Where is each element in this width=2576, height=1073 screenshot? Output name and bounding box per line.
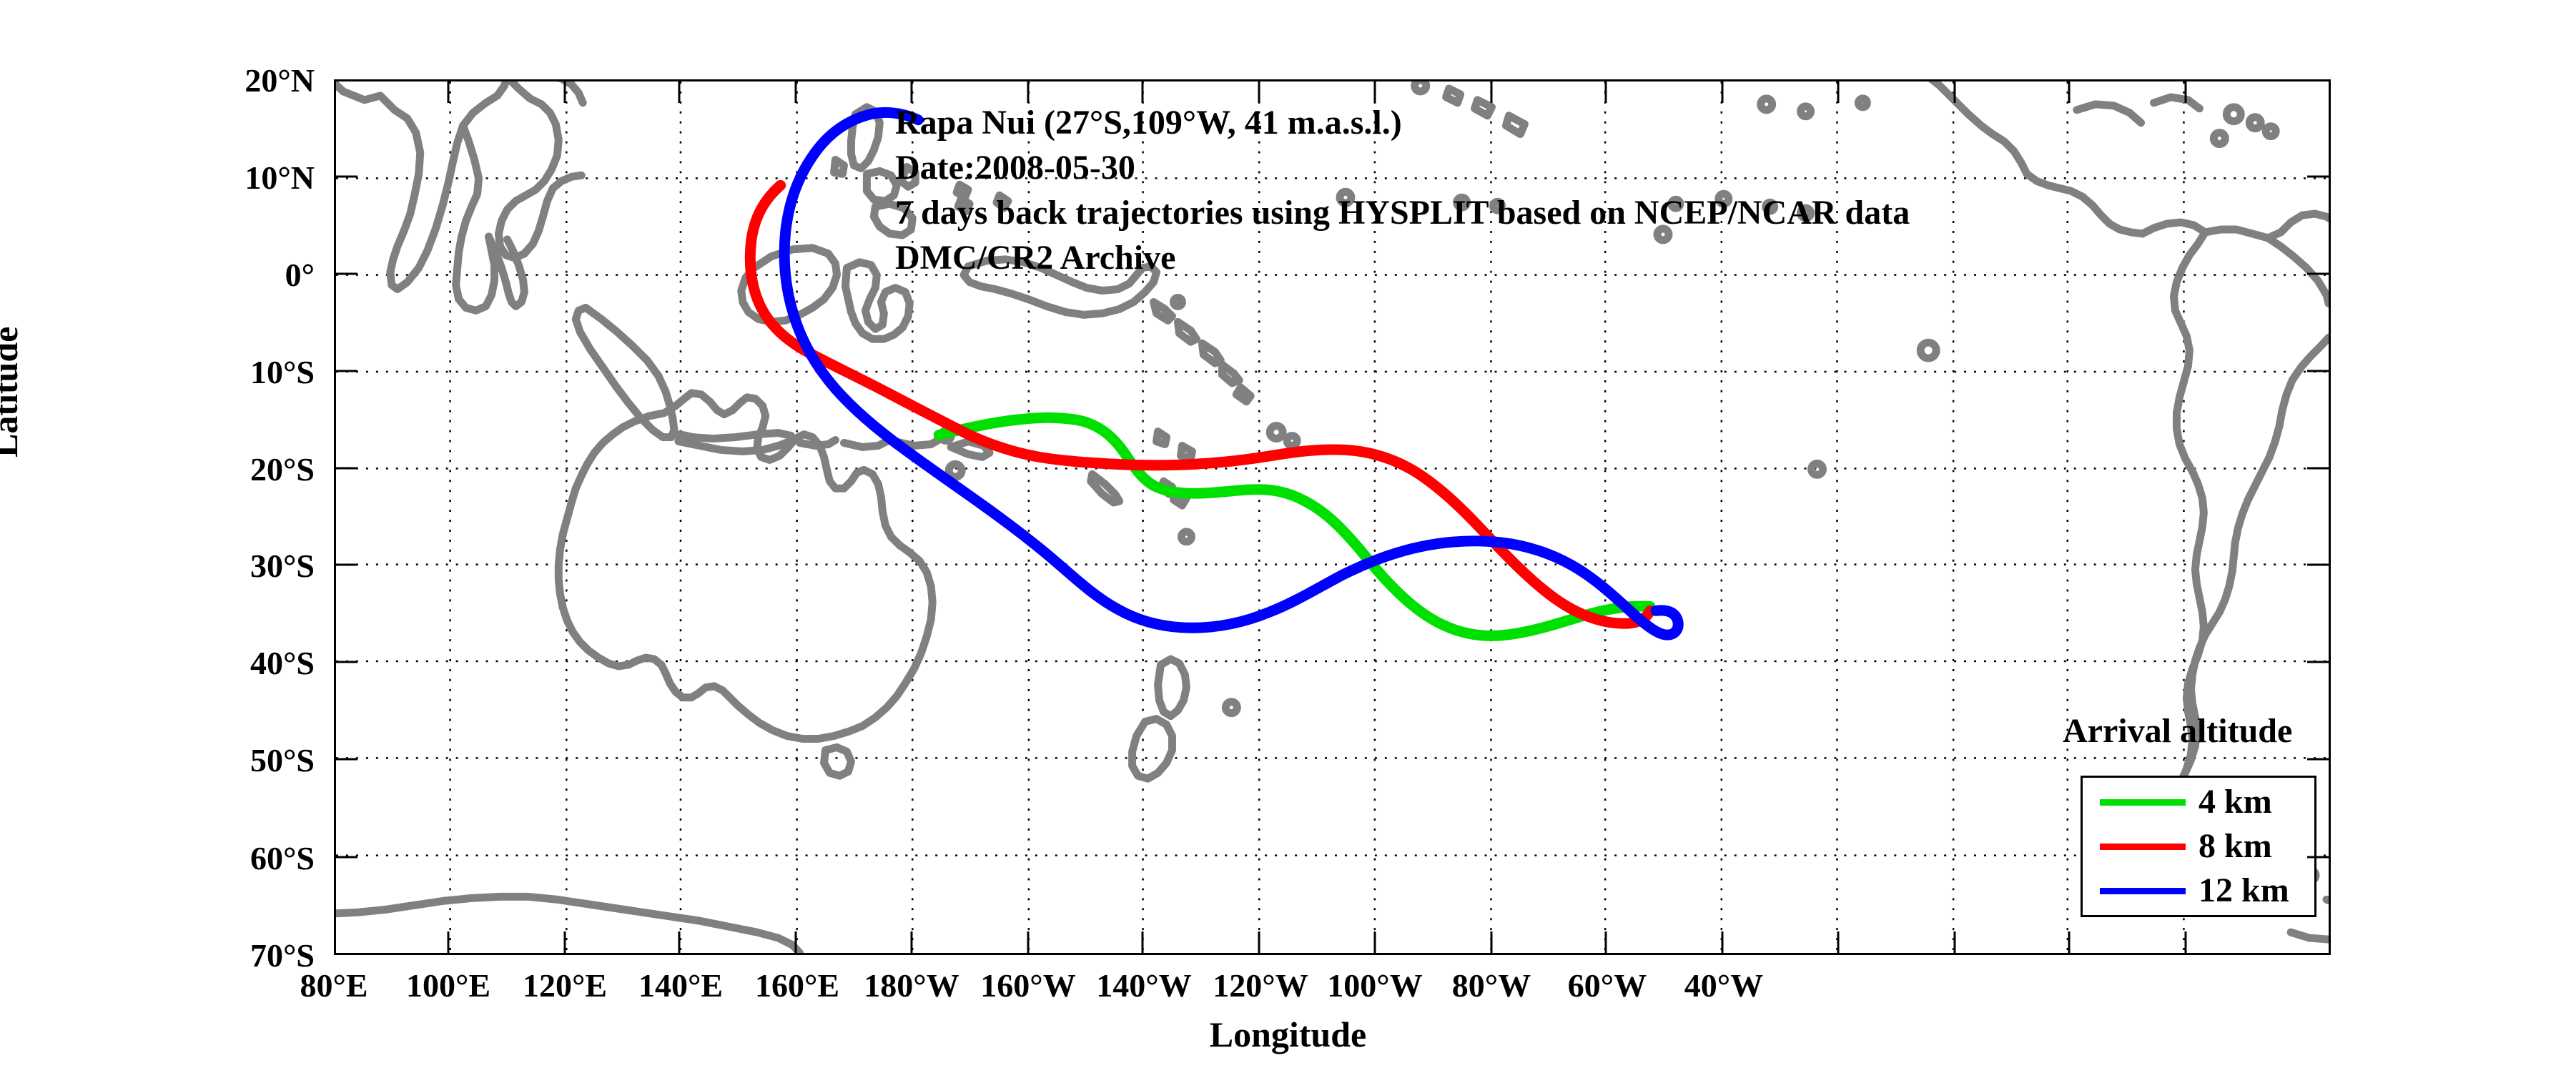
y-tick-label-0: 0° — [143, 256, 315, 294]
legend-item-4km[interactable]: 4 km — [2083, 781, 2314, 824]
annotation-line-1: Rapa Nui (27°S,109°W, 41 m.a.s.l.) — [895, 100, 1910, 145]
legend-label-12km: 12 km — [2199, 874, 2289, 908]
y-tick-label-60s: 60°S — [143, 839, 315, 877]
y-tick-label-20n: 20°N — [143, 61, 315, 99]
figure-root: Latitude — [0, 0, 2576, 1073]
y-axis-title: Latitude — [0, 327, 26, 458]
x-tick-label-40w: 40°W — [1638, 966, 1810, 1004]
annotation-line-4: DMC/CR2 Archive — [895, 235, 1910, 280]
legend-swatch-red — [2100, 844, 2186, 850]
legend-title: Arrival altitude — [2063, 711, 2292, 751]
legend-item-8km[interactable]: 8 km — [2083, 825, 2314, 868]
y-tick-label-10s: 10°S — [143, 353, 315, 391]
legend-swatch-blue — [2100, 888, 2186, 894]
legend-box: 4 km 8 km 12 km — [2081, 776, 2316, 917]
y-tick-label-40s: 40°S — [143, 644, 315, 682]
y-tick-label-30s: 30°S — [143, 547, 315, 585]
legend-label-8km: 8 km — [2199, 829, 2272, 864]
legend-label-4km: 4 km — [2199, 785, 2272, 819]
legend-swatch-green — [2100, 799, 2186, 806]
y-tick-label-10n: 10°N — [143, 159, 315, 197]
legend-item-12km[interactable]: 12 km — [2083, 869, 2314, 912]
annotation-line-2: Date:2008-05-30 — [895, 145, 1910, 190]
x-axis-title: Longitude — [0, 1014, 2576, 1055]
y-tick-label-20s: 20°S — [143, 450, 315, 488]
annotation-line-3: 7 days back trajectories using HYSPLIT b… — [895, 190, 1910, 235]
annotation-block: Rapa Nui (27°S,109°W, 41 m.a.s.l.) Date:… — [895, 100, 1910, 280]
y-tick-label-50s: 50°S — [143, 741, 315, 779]
